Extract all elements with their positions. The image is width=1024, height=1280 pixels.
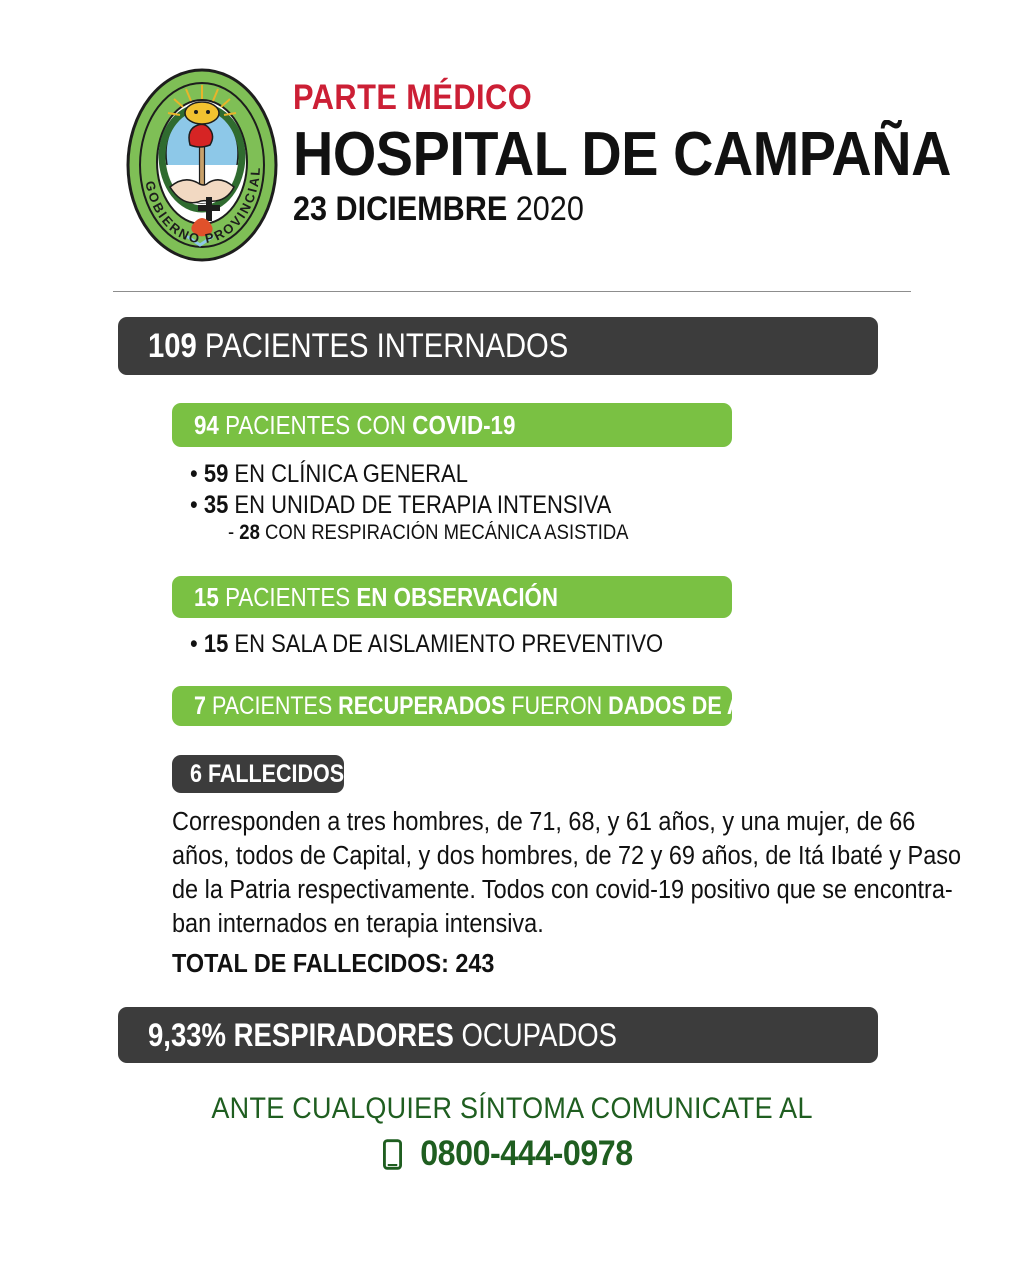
alta-seg3: FUERON bbox=[505, 692, 608, 720]
total-deceased-text: TOTAL DE FALLECIDOS: 243 bbox=[172, 948, 494, 979]
alta-number: 7 bbox=[194, 692, 206, 720]
government-crest: GOBIERNO PROVINCIAL bbox=[122, 62, 283, 267]
observacion-label-mid: PACIENTES bbox=[225, 582, 356, 612]
list-covid: • 59 EN CLÍNICA GENERAL • 35 EN UNIDAD D… bbox=[190, 459, 683, 546]
item-number: 28 bbox=[239, 521, 260, 544]
bullet-glyph: • bbox=[190, 491, 198, 519]
deceased-description: Corresponden a tres hombres, de 71, 68, … bbox=[172, 806, 888, 942]
covid-label-mid: PACIENTES CON bbox=[225, 410, 412, 440]
item-number: 59 bbox=[204, 460, 228, 488]
footer-phone-row[interactable]: 0800-444-0978 bbox=[0, 1134, 1024, 1174]
observacion-number: 15 bbox=[194, 582, 219, 612]
internados-number: 109 bbox=[148, 327, 197, 365]
fallecidos-label: FALLECIDOS bbox=[208, 760, 344, 788]
crest-icon: GOBIERNO PROVINCIAL bbox=[122, 65, 282, 265]
bullet-glyph: • bbox=[190, 630, 198, 658]
mobile-phone-icon bbox=[383, 1139, 402, 1170]
item-text: EN CLÍNICA GENERAL bbox=[234, 460, 468, 488]
date-day: 23 DICIEMBRE bbox=[293, 190, 507, 228]
footer: ANTE CUALQUIER SÍNTOMA COMUNICATE AL 080… bbox=[0, 1092, 1024, 1174]
page-date: 23 DICIEMBRE 2020 bbox=[293, 192, 951, 226]
paragraph-line: Corresponden a tres hombres, de 71, 68, … bbox=[172, 806, 831, 840]
banner-internados: 109 PACIENTES INTERNADOS bbox=[118, 317, 878, 375]
date-year: 2020 bbox=[516, 190, 584, 228]
footer-phone-number[interactable]: 0800-444-0978 bbox=[420, 1134, 632, 1174]
internados-label: PACIENTES INTERNADOS bbox=[205, 327, 568, 365]
bullet-glyph: • bbox=[190, 460, 198, 488]
list-item: • 35 EN UNIDAD DE TERAPIA INTENSIVA bbox=[190, 490, 683, 521]
paragraph-line: ban internados en terapia intensiva. bbox=[172, 908, 831, 942]
banner-altas: 7 PACIENTES RECUPERADOS FUERON DADOS DE … bbox=[172, 686, 732, 726]
list-item-sub: - 28 CON RESPIRACIÓN MECÁNICA ASISTIDA bbox=[190, 520, 683, 546]
item-text: EN UNIDAD DE TERAPIA INTENSIVA bbox=[234, 491, 611, 519]
banner-respiradores: 9,33% RESPIRADORES OCUPADOS bbox=[118, 1007, 878, 1063]
header-divider bbox=[113, 291, 911, 292]
infographic-page: GOBIERNO PROVINCIAL PARTE MÉDICO HOSPITA… bbox=[0, 0, 1024, 1280]
alta-seg2: RECUPERADOS bbox=[338, 692, 505, 720]
paragraph-line: años, todos de Capital, y dos hombres, d… bbox=[172, 840, 831, 874]
list-item: • 15 EN SALA DE AISLAMIENTO PREVENTIVO bbox=[190, 629, 728, 660]
respiradores-label-bold: RESPIRADORES bbox=[234, 1017, 454, 1053]
page-title: HOSPITAL DE CAMPAÑA bbox=[293, 123, 951, 186]
header-titles: PARTE MÉDICO HOSPITAL DE CAMPAÑA 23 DICI… bbox=[293, 62, 1024, 226]
item-number: 15 bbox=[204, 630, 228, 658]
banner-fallecidos: 6 FALLECIDOS bbox=[172, 755, 344, 793]
list-observacion: • 15 EN SALA DE AISLAMIENTO PREVENTIVO bbox=[190, 629, 728, 660]
footer-instruction: ANTE CUALQUIER SÍNTOMA COMUNICATE AL bbox=[0, 1092, 1024, 1126]
total-deceased: TOTAL DE FALLECIDOS: 243 bbox=[172, 948, 530, 979]
covid-label-bold: COVID-19 bbox=[412, 410, 515, 440]
banner-covid: 94 PACIENTES CON COVID-19 bbox=[172, 403, 732, 447]
observacion-label-bold: EN OBSERVACIÓN bbox=[356, 582, 558, 612]
item-text: CON RESPIRACIÓN MECÁNICA ASISTIDA bbox=[265, 521, 629, 544]
respiradores-number: 9,33% bbox=[148, 1017, 226, 1053]
list-item: • 59 EN CLÍNICA GENERAL bbox=[190, 459, 683, 490]
item-text: EN SALA DE AISLAMIENTO PREVENTIVO bbox=[234, 630, 663, 658]
paragraph-line: de la Patria respectivamente. Todos con … bbox=[172, 874, 831, 908]
header: GOBIERNO PROVINCIAL PARTE MÉDICO HOSPITA… bbox=[0, 62, 1024, 267]
banner-observacion: 15 PACIENTES EN OBSERVACIÓN bbox=[172, 576, 732, 618]
dash-glyph: - bbox=[228, 521, 234, 544]
alta-seg1: PACIENTES bbox=[212, 692, 338, 720]
item-number: 35 bbox=[204, 491, 228, 519]
respiradores-label-rest: OCUPADOS bbox=[454, 1017, 617, 1053]
page-kicker: PARTE MÉDICO bbox=[293, 80, 936, 115]
fallecidos-number: 6 bbox=[190, 760, 202, 788]
alta-seg4: DADOS DE ALTA bbox=[608, 692, 781, 720]
footer-instruction-text: ANTE CUALQUIER SÍNTOMA COMUNICATE AL bbox=[211, 1092, 812, 1126]
covid-number: 94 bbox=[194, 410, 219, 440]
